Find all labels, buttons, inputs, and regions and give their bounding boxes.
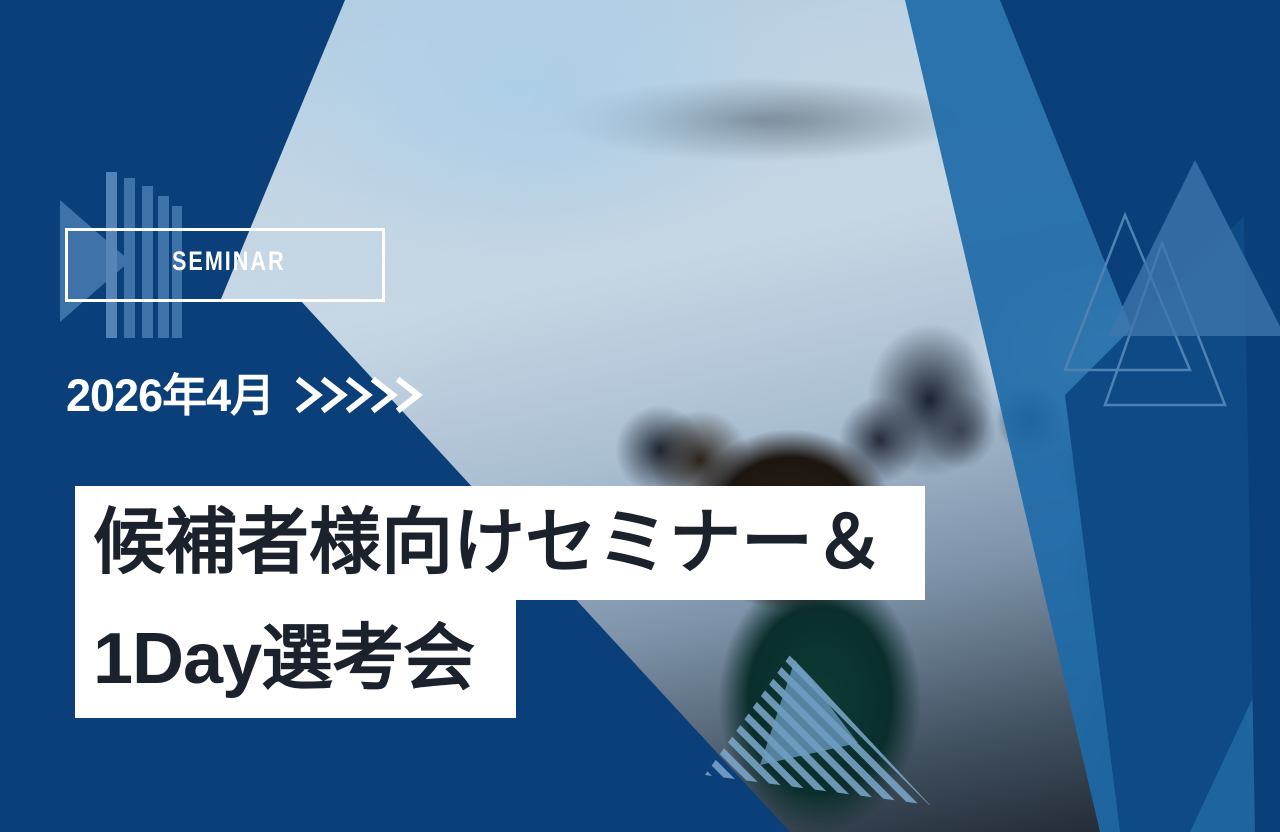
date-row: 2026年4月 [66,372,428,418]
title-box-line2: 1Day選考会 [75,600,516,718]
triangle-cluster-icon [1040,150,1280,450]
seminar-label-text: SEMINAR [172,248,286,275]
striped-triangle-icon [700,655,930,832]
chevron-group-icon [296,372,428,418]
title-text-line1: 候補者様向けセミナー＆ [93,507,885,579]
date-text: 2026年4月 [66,373,274,418]
title-box-line1: 候補者様向けセミナー＆ [75,486,925,600]
seminar-banner: SEMINAR 2026年4月 候補者様向けセミナー＆ 1Day選考会 [0,0,1280,832]
title-text-line2: 1Day選考会 [93,623,474,695]
